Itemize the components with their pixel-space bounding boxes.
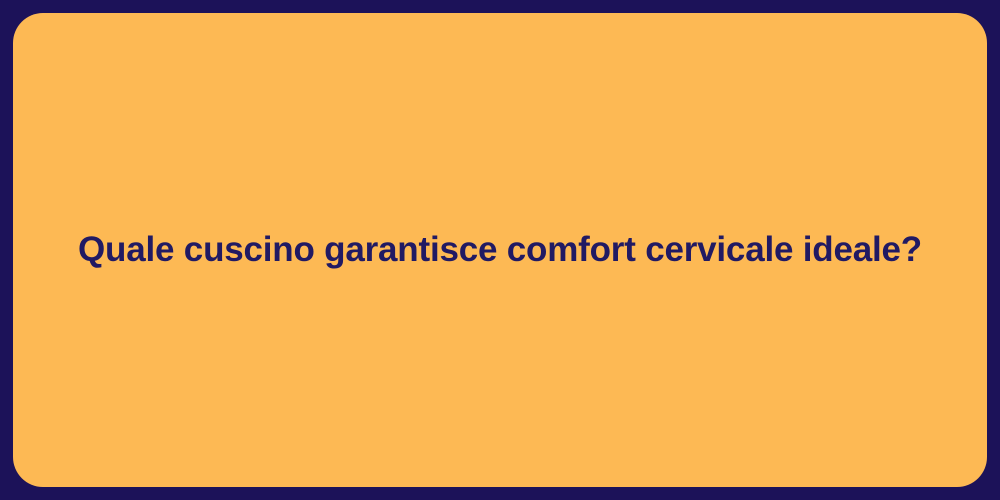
page-background: Quale cuscino garantisce comfort cervica… [0,0,1000,500]
question-card: Quale cuscino garantisce comfort cervica… [13,13,987,487]
question-heading: Quale cuscino garantisce comfort cervica… [78,228,922,272]
